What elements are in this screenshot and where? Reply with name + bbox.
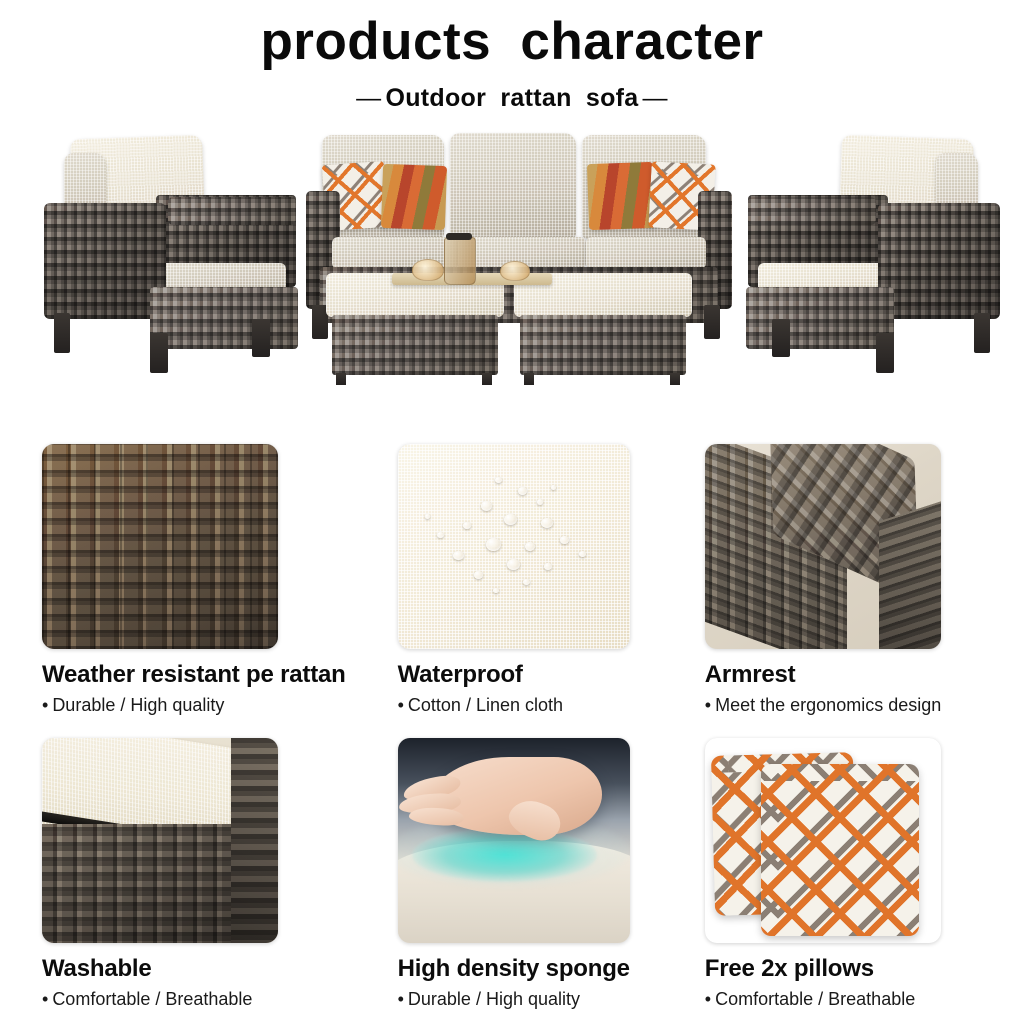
water-droplets-overlay bbox=[398, 444, 630, 649]
ottoman-left-base bbox=[332, 315, 498, 375]
feature-card-weather-resistant-pe-rattan: Weather resistant pe rattan •Durable / H… bbox=[0, 430, 362, 716]
feature-card-armrest: Armrest •Meet the ergonomics design bbox=[693, 430, 1024, 716]
feature-subtitle-text: Durable / High quality bbox=[408, 989, 580, 1009]
feature-title: Washable bbox=[42, 955, 346, 983]
ottoman-right-leg-l bbox=[524, 373, 534, 385]
subtitle-text: Outdoor rattan sofa bbox=[385, 84, 638, 112]
rattan-corner-post bbox=[231, 738, 278, 943]
feature-title: Armrest bbox=[705, 661, 1008, 689]
cushion-zipper-image bbox=[42, 738, 278, 943]
rattan-weave-texture-image bbox=[42, 444, 278, 649]
right-chair-leg-mid bbox=[876, 333, 894, 373]
ottoman-right-base bbox=[520, 315, 686, 375]
sofa-seat-cushion-right bbox=[586, 237, 706, 269]
feature-subtitle-text: Comfortable / Breathable bbox=[52, 989, 252, 1009]
washable-cushion-icon bbox=[42, 738, 278, 943]
feature-title: Weather resistant pe rattan bbox=[42, 661, 346, 689]
right-armchair bbox=[736, 137, 1004, 385]
right-chair-arm-near bbox=[878, 203, 1000, 319]
feature-subtitle: •Durable / High quality bbox=[398, 989, 677, 1011]
left-chair-leg-back bbox=[252, 319, 270, 357]
orange-diamond-pillows-image bbox=[705, 738, 941, 943]
feature-title: Waterproof bbox=[398, 661, 677, 689]
feature-card-high-density-sponge: High density sponge •Durable / High qual… bbox=[362, 716, 693, 1010]
three-seat-sofa bbox=[306, 129, 730, 391]
sofa-back-cushion-center bbox=[450, 133, 576, 239]
left-chair-arm-near bbox=[44, 203, 166, 319]
feature-card-waterproof: Waterproof •Cotton / Linen cloth bbox=[362, 430, 693, 716]
bullet-icon: • bbox=[398, 695, 404, 717]
tea-cup-left bbox=[412, 259, 444, 281]
sofa-pillow-stripe-left bbox=[381, 164, 447, 230]
feature-subtitle: •Durable / High quality bbox=[42, 695, 346, 717]
ottoman-left-leg-l bbox=[336, 373, 346, 385]
feature-subtitle: •Comfortable / Breathable bbox=[705, 989, 1008, 1011]
armrest-end-weave bbox=[879, 498, 940, 649]
left-chair-front-panel bbox=[150, 287, 298, 349]
left-armchair bbox=[38, 137, 306, 385]
hero-product-image bbox=[0, 119, 1024, 409]
infographic-page: products character —Outdoor rattan sofa— bbox=[0, 0, 1024, 1024]
tea-cup-right bbox=[500, 261, 530, 281]
left-chair-arm-far bbox=[168, 197, 296, 225]
hand-pressing-foam-image bbox=[398, 738, 630, 943]
armrest-closeup-icon bbox=[705, 444, 941, 649]
feature-subtitle: •Comfortable / Breathable bbox=[42, 989, 346, 1011]
dash-right-icon: — bbox=[639, 84, 672, 113]
waterproof-fabric-image bbox=[398, 444, 630, 649]
feature-grid: Weather resistant pe rattan •Durable / H… bbox=[0, 430, 1024, 1010]
pillow-front bbox=[761, 764, 919, 936]
foam-glow-teal bbox=[412, 828, 598, 881]
feature-subtitle: •Cotton / Linen cloth bbox=[398, 695, 677, 717]
sofa-leg-right bbox=[704, 305, 720, 339]
memory-foam-icon bbox=[398, 738, 630, 943]
pillows-icon bbox=[705, 738, 941, 943]
rattan-weave-texture-icon bbox=[42, 444, 278, 649]
ottoman-right-leg-r bbox=[670, 373, 680, 385]
bullet-icon: • bbox=[42, 989, 48, 1011]
feature-subtitle-text: Comfortable / Breathable bbox=[715, 989, 915, 1009]
tea-set bbox=[392, 235, 552, 297]
header: products character —Outdoor rattan sofa— bbox=[0, 0, 1024, 113]
feature-subtitle-text: Meet the ergonomics design bbox=[715, 695, 941, 715]
bullet-icon: • bbox=[705, 989, 711, 1011]
bullet-icon: • bbox=[42, 695, 48, 717]
left-chair-leg-mid bbox=[150, 333, 168, 373]
feature-title: Free 2x pillows bbox=[705, 955, 1008, 983]
feature-subtitle-text: Cotton / Linen cloth bbox=[408, 695, 563, 715]
tea-carafe-lid bbox=[446, 233, 472, 240]
left-chair-leg-front bbox=[54, 313, 70, 353]
right-chair-leg-back bbox=[772, 319, 790, 357]
right-chair-front-panel bbox=[746, 287, 894, 349]
bullet-icon: • bbox=[398, 989, 404, 1011]
right-chair-leg-front bbox=[974, 313, 990, 353]
feature-card-free-2x-pillows: Free 2x pillows •Comfortable / Breathabl… bbox=[693, 716, 1024, 1010]
bullet-icon: • bbox=[705, 695, 711, 717]
feature-subtitle-text: Durable / High quality bbox=[52, 695, 224, 715]
sofa-pillow-stripe-right bbox=[587, 162, 655, 230]
hand-icon bbox=[430, 757, 602, 835]
rattan-base-weave bbox=[42, 824, 236, 943]
feature-title: High density sponge bbox=[398, 955, 677, 983]
right-chair-arm-far bbox=[748, 197, 876, 225]
ottoman-left-leg-r bbox=[482, 373, 492, 385]
tea-carafe bbox=[444, 237, 476, 285]
hero-stage bbox=[0, 119, 1024, 409]
page-title: products character bbox=[0, 14, 1024, 70]
page-subtitle: —Outdoor rattan sofa— bbox=[0, 84, 1024, 113]
feature-card-washable: Washable •Comfortable / Breathable bbox=[0, 716, 362, 1010]
dash-left-icon: — bbox=[352, 84, 385, 113]
finger-3 bbox=[409, 806, 465, 827]
feature-subtitle: •Meet the ergonomics design bbox=[705, 695, 1008, 717]
rattan-armrest-image bbox=[705, 444, 941, 649]
